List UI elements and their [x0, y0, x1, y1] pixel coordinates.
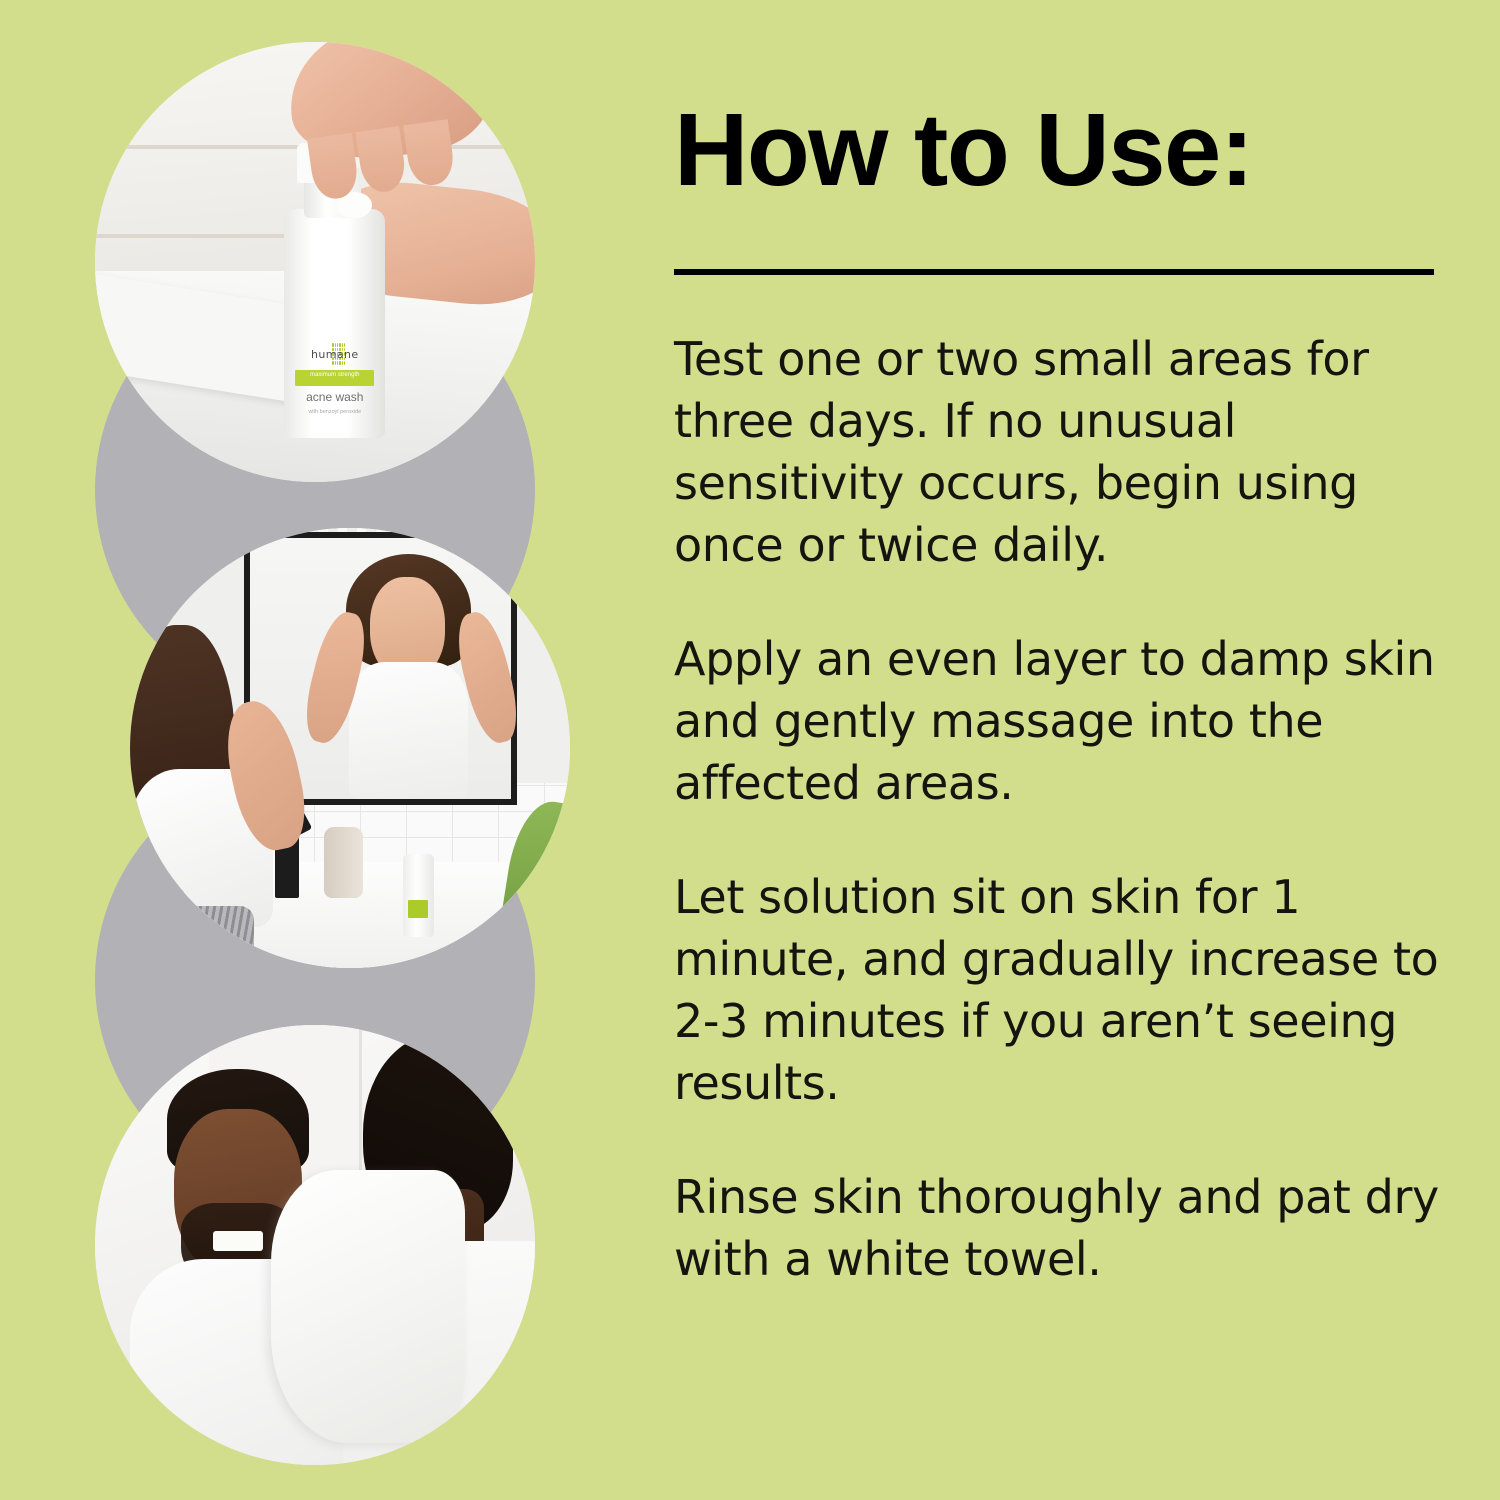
- page-title: How to Use:: [674, 96, 1253, 203]
- woman-back-view: [130, 625, 280, 968]
- product-bottle: [284, 209, 385, 438]
- step-wait: Let solution sit on skin for 1 minute, a…: [674, 866, 1439, 1114]
- steps-list: Test one or two small areas for three da…: [674, 328, 1439, 1290]
- photo-drying-with-towel: [95, 1025, 535, 1465]
- step-patch-test: Test one or two small areas for three da…: [674, 328, 1439, 576]
- photo-column: humane maximum strength acne wash with b…: [0, 0, 620, 1500]
- bottle-subtitle: with benzoyl peroxide: [289, 409, 381, 415]
- title-divider: [674, 269, 1434, 275]
- soap-dispenser-jar: [324, 827, 364, 897]
- humane-bottle-on-counter: [403, 854, 434, 938]
- bottle-badge-text: maximum strength: [295, 370, 374, 386]
- white-towel: [271, 1170, 465, 1443]
- photo-dispensing-product: humane maximum strength acne wash with b…: [95, 42, 535, 482]
- how-to-use-infographic: humane maximum strength acne wash with b…: [0, 0, 1500, 1500]
- photo-applying-to-face: [130, 528, 570, 968]
- bottle-brand-text: humane: [293, 348, 377, 361]
- instructions-column: How to Use: Test one or two small areas …: [660, 0, 1450, 1500]
- step-rinse: Rinse skin thoroughly and pat dry with a…: [674, 1166, 1439, 1290]
- step-apply: Apply an even layer to damp skin and gen…: [674, 628, 1439, 814]
- bottle-product-name: acne wash: [289, 390, 381, 404]
- mirror-reflection-woman: [337, 554, 487, 809]
